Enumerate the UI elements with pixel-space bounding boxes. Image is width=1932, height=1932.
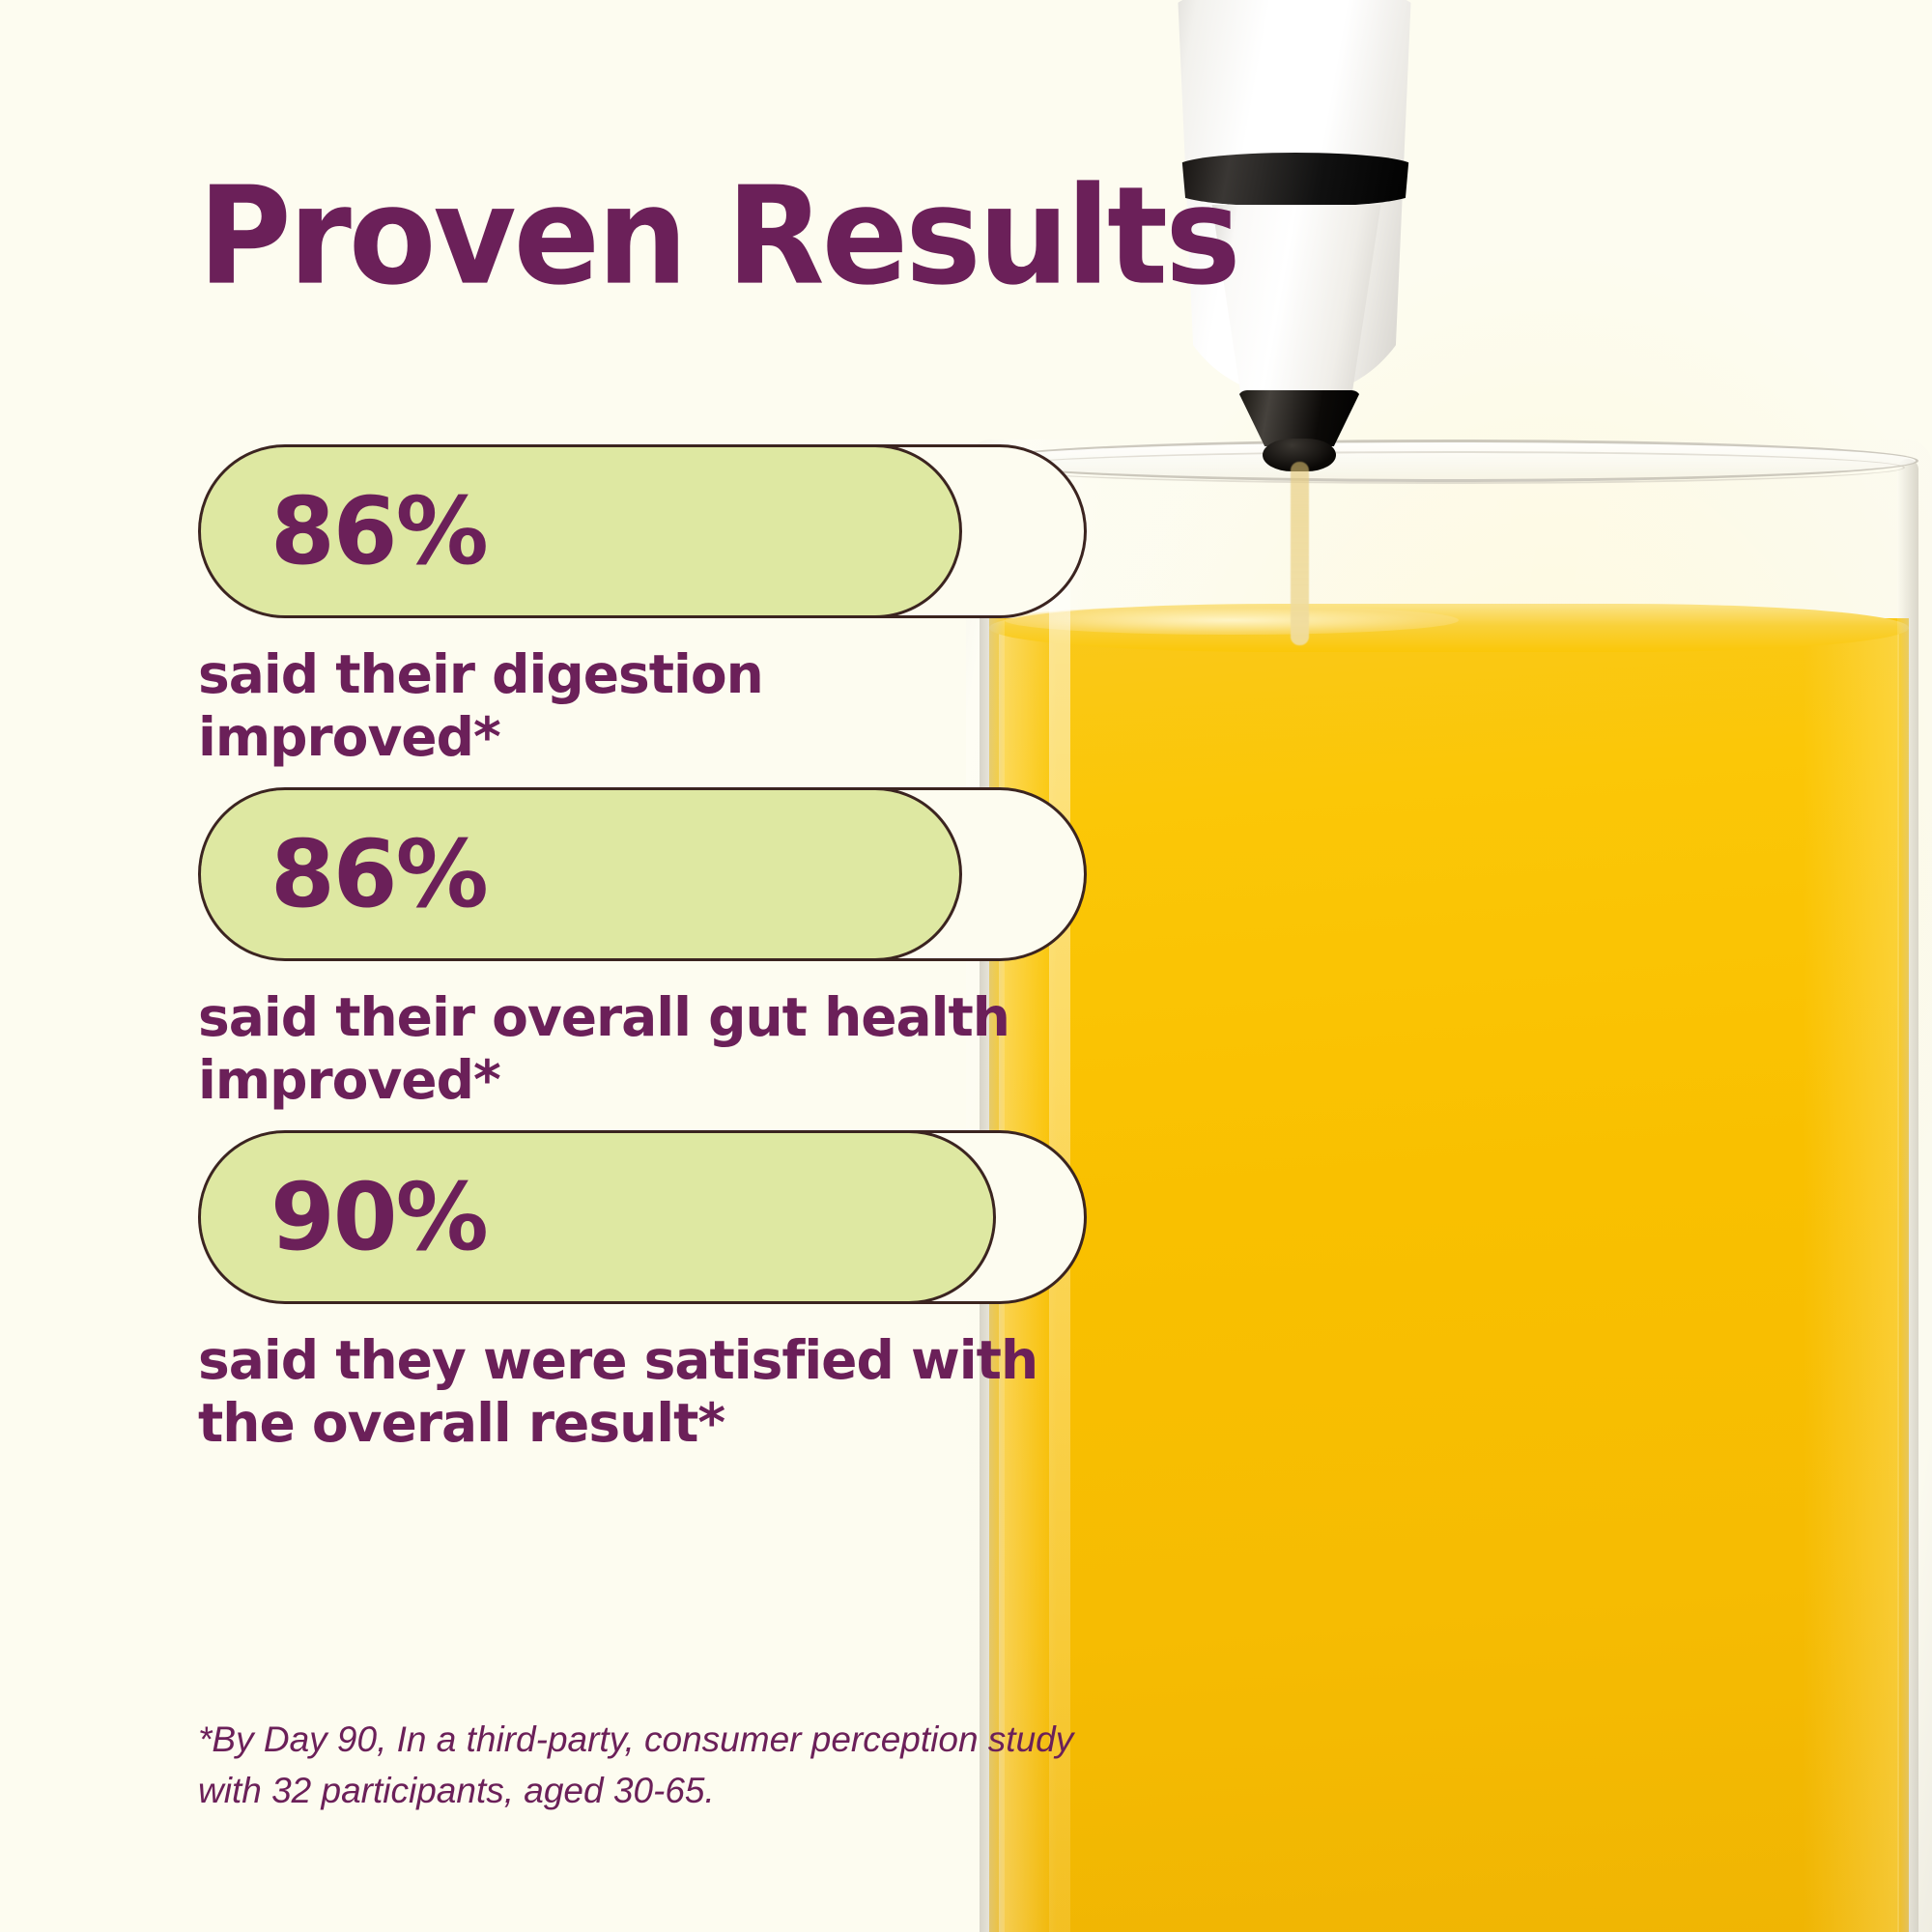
stat-value-1: 86% bbox=[270, 477, 487, 585]
page-title: Proven Results bbox=[198, 169, 1238, 304]
stat-block-satisfaction: 90% said they were satisfied with the ov… bbox=[198, 1130, 1087, 1455]
content-column: Proven Results 86% said their digestion … bbox=[0, 0, 1179, 1932]
study-footnote: *By Day 90, In a third-party, consumer p… bbox=[198, 1715, 1096, 1816]
pouring-stream bbox=[1291, 462, 1309, 645]
glass-wall-right bbox=[1897, 459, 1918, 1932]
stat-block-gut-health: 86% said their overall gut health improv… bbox=[198, 787, 1087, 1112]
infographic-canvas: Proven Results 86% said their digestion … bbox=[0, 0, 1932, 1932]
juice-highlight-right bbox=[1803, 633, 1899, 1932]
stat-caption-1: said their digestion improved* bbox=[198, 643, 1048, 769]
stat-caption-2: said their overall gut health improved* bbox=[198, 986, 1048, 1112]
progress-bar-track-1: 86% bbox=[198, 444, 1087, 618]
stat-value-3: 90% bbox=[270, 1163, 487, 1271]
stat-block-digestion: 86% said their digestion improved* bbox=[198, 444, 1087, 769]
progress-bar-track-2: 86% bbox=[198, 787, 1087, 961]
stat-value-2: 86% bbox=[270, 820, 487, 928]
progress-bar-track-3: 90% bbox=[198, 1130, 1087, 1304]
stat-caption-3: said they were satisfied with the overal… bbox=[198, 1329, 1048, 1455]
